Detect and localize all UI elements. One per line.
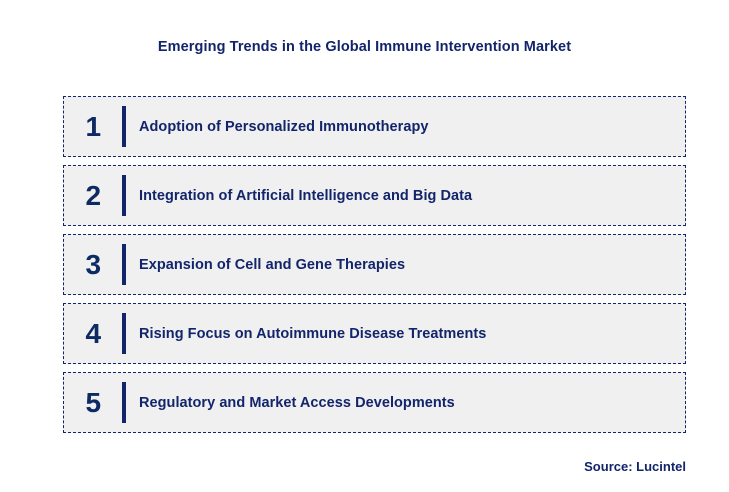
trend-number: 4	[64, 319, 122, 349]
list-item[interactable]: 5 Regulatory and Market Access Developme…	[63, 372, 686, 433]
vertical-divider	[122, 244, 126, 285]
vertical-divider	[122, 382, 126, 423]
trend-number: 1	[64, 112, 122, 142]
list-item[interactable]: 2 Integration of Artificial Intelligence…	[63, 165, 686, 226]
trend-number: 3	[64, 250, 122, 280]
source-attribution: Source: Lucintel	[584, 459, 686, 475]
trend-number: 2	[64, 181, 122, 211]
vertical-divider	[122, 106, 126, 147]
trend-label: Adoption of Personalized Immunotherapy	[139, 118, 685, 136]
list-item[interactable]: 4 Rising Focus on Autoimmune Disease Tre…	[63, 303, 686, 364]
vertical-divider	[122, 175, 126, 216]
trend-number: 5	[64, 388, 122, 418]
trend-label: Rising Focus on Autoimmune Disease Treat…	[139, 325, 685, 343]
vertical-divider	[122, 313, 126, 354]
list-item[interactable]: 1 Adoption of Personalized Immunotherapy	[63, 96, 686, 157]
page-title: Emerging Trends in the Global Immune Int…	[0, 38, 729, 56]
trend-label: Expansion of Cell and Gene Therapies	[139, 256, 685, 274]
infographic-canvas: Emerging Trends in the Global Immune Int…	[0, 0, 729, 492]
trend-label: Regulatory and Market Access Development…	[139, 394, 685, 412]
trend-list: 1 Adoption of Personalized Immunotherapy…	[63, 96, 686, 433]
trend-label: Integration of Artificial Intelligence a…	[139, 187, 685, 205]
list-item[interactable]: 3 Expansion of Cell and Gene Therapies	[63, 234, 686, 295]
